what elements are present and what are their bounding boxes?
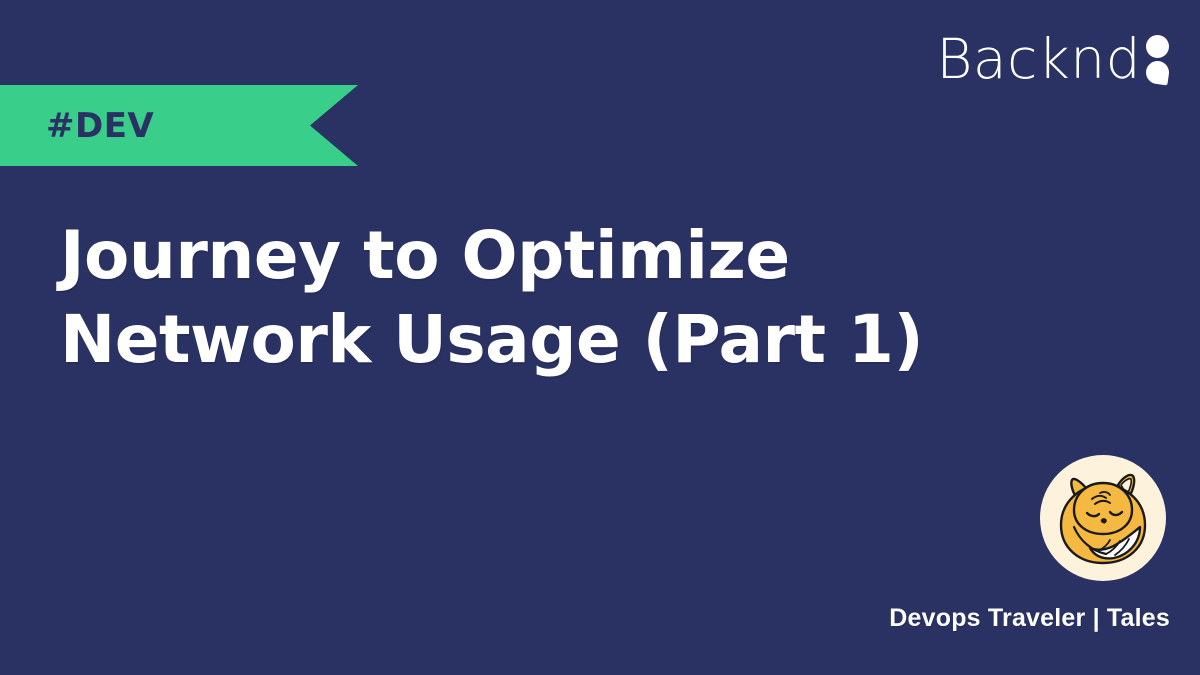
category-ribbon-label: #DEV [46, 106, 154, 146]
page-title: Journey to Optimize Network Usage (Part … [60, 214, 1110, 382]
category-ribbon[interactable]: #DEV [0, 85, 358, 166]
dot-comma-mark-icon [1144, 30, 1174, 88]
author-caption: Devops Traveler | Tales [889, 604, 1170, 633]
brand-wordmark: Backnd [936, 32, 1141, 87]
mark-dot-upper [1146, 35, 1169, 58]
brand-logo[interactable]: Backnd [936, 24, 1174, 94]
fox-illustration [1040, 455, 1166, 581]
page-title-line-2: Network Usage (Part 1) [60, 298, 1110, 382]
mark-comma-lower [1145, 60, 1171, 86]
page-title-line-1: Journey to Optimize [60, 214, 1110, 298]
sleeping-fox-icon [1040, 455, 1166, 581]
presentation-card: Backnd #DEV Journey to Optimize Network … [0, 0, 1200, 675]
